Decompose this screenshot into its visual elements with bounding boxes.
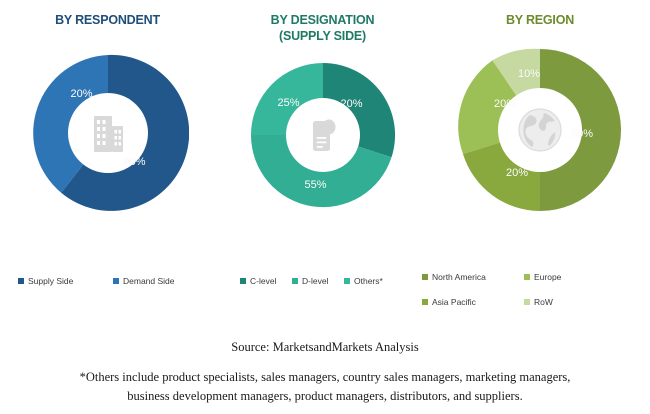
slice-label-d-level: 55% <box>304 179 326 191</box>
legend-item-demand-side[interactable]: Demand Side <box>113 276 208 286</box>
legend-swatch-supply-side <box>18 278 24 284</box>
others-footnote-line1: *Others include product specialists, sal… <box>80 370 571 384</box>
slice-label-supply-side: 80% <box>123 156 145 168</box>
donut-wrap-respondent: 80% 20% <box>0 52 215 214</box>
legend-label-europe: Europe <box>534 272 561 282</box>
donut-designation: 20% 55% 25% <box>248 60 398 210</box>
legend-item-row[interactable]: RoW <box>524 297 626 307</box>
legend-label-others: Others* <box>354 276 383 286</box>
source-line: Source: MarketsandMarkets Analysis <box>0 340 650 355</box>
legend-label-c-level: C-level <box>250 276 276 286</box>
legend-item-europe[interactable]: Europe <box>524 272 626 282</box>
legend-item-north-america[interactable]: North America <box>422 272 524 282</box>
legend-swatch-north-america <box>422 274 428 280</box>
legend-by-respondent: Supply Side Demand Side <box>18 276 208 286</box>
legend-label-asia-pacific: Asia Pacific <box>432 297 476 307</box>
legend-item-d-level[interactable]: D-level <box>292 276 344 286</box>
legend-label-row: RoW <box>534 297 553 307</box>
legend-by-designation: C-level D-level Others* <box>240 276 400 286</box>
chart-by-designation: BY DESIGNATION (SUPPLY SIDE) <box>215 0 430 262</box>
legend-label-d-level: D-level <box>302 276 328 286</box>
legend-by-region: North America Europe Asia Pacific RoW <box>422 272 637 322</box>
legend-item-c-level[interactable]: C-level <box>240 276 292 286</box>
donut-respondent: 80% 20% <box>27 52 189 214</box>
legend-item-asia-pacific[interactable]: Asia Pacific <box>422 297 524 307</box>
chart-title-by-designation: BY DESIGNATION <box>215 12 430 28</box>
legends-area: Supply Side Demand Side C-level D-level … <box>0 262 650 330</box>
donut-region: 50% 20% 20% 10% <box>456 46 624 214</box>
legend-label-demand-side: Demand Side <box>123 276 175 286</box>
slice-label-row: 10% <box>518 68 540 80</box>
slice-label-europe: 20% <box>494 98 516 110</box>
legend-swatch-asia-pacific <box>422 299 428 305</box>
legend-swatch-others <box>344 278 350 284</box>
donut-svg-respondent <box>27 52 189 214</box>
legend-item-supply-side[interactable]: Supply Side <box>18 276 113 286</box>
legend-swatch-d-level <box>292 278 298 284</box>
legend-swatch-c-level <box>240 278 246 284</box>
legend-item-others[interactable]: Others* <box>344 276 396 286</box>
slice-label-north-america: 50% <box>571 128 593 140</box>
donut-wrap-designation: 20% 55% 25% <box>215 60 430 210</box>
chart-subtitle-by-designation: (SUPPLY SIDE) <box>215 28 430 44</box>
legend-label-north-america: North America <box>432 272 486 282</box>
slice-label-c-level: 20% <box>340 98 362 110</box>
donut-wrap-region: 50% 20% 20% 10% <box>430 46 650 214</box>
others-footnote: *Others include product specialists, sal… <box>0 368 650 406</box>
chart-title-by-respondent: BY RESPONDENT <box>0 12 215 28</box>
slice-label-others: 25% <box>277 97 299 109</box>
legend-swatch-row <box>524 299 530 305</box>
chart-by-region: BY REGION <box>430 0 650 262</box>
legend-swatch-demand-side <box>113 278 119 284</box>
donut-charts-row: BY RESPONDENT <box>0 0 650 262</box>
legend-label-supply-side: Supply Side <box>28 276 73 286</box>
legend-swatch-europe <box>524 274 530 280</box>
slice-label-asia-pacific: 20% <box>506 167 528 179</box>
chart-by-respondent: BY RESPONDENT <box>0 0 215 262</box>
slice-label-demand-side: 20% <box>70 88 92 100</box>
chart-title-by-region: BY REGION <box>430 12 650 28</box>
others-footnote-line2: business development managers, product m… <box>127 389 522 403</box>
